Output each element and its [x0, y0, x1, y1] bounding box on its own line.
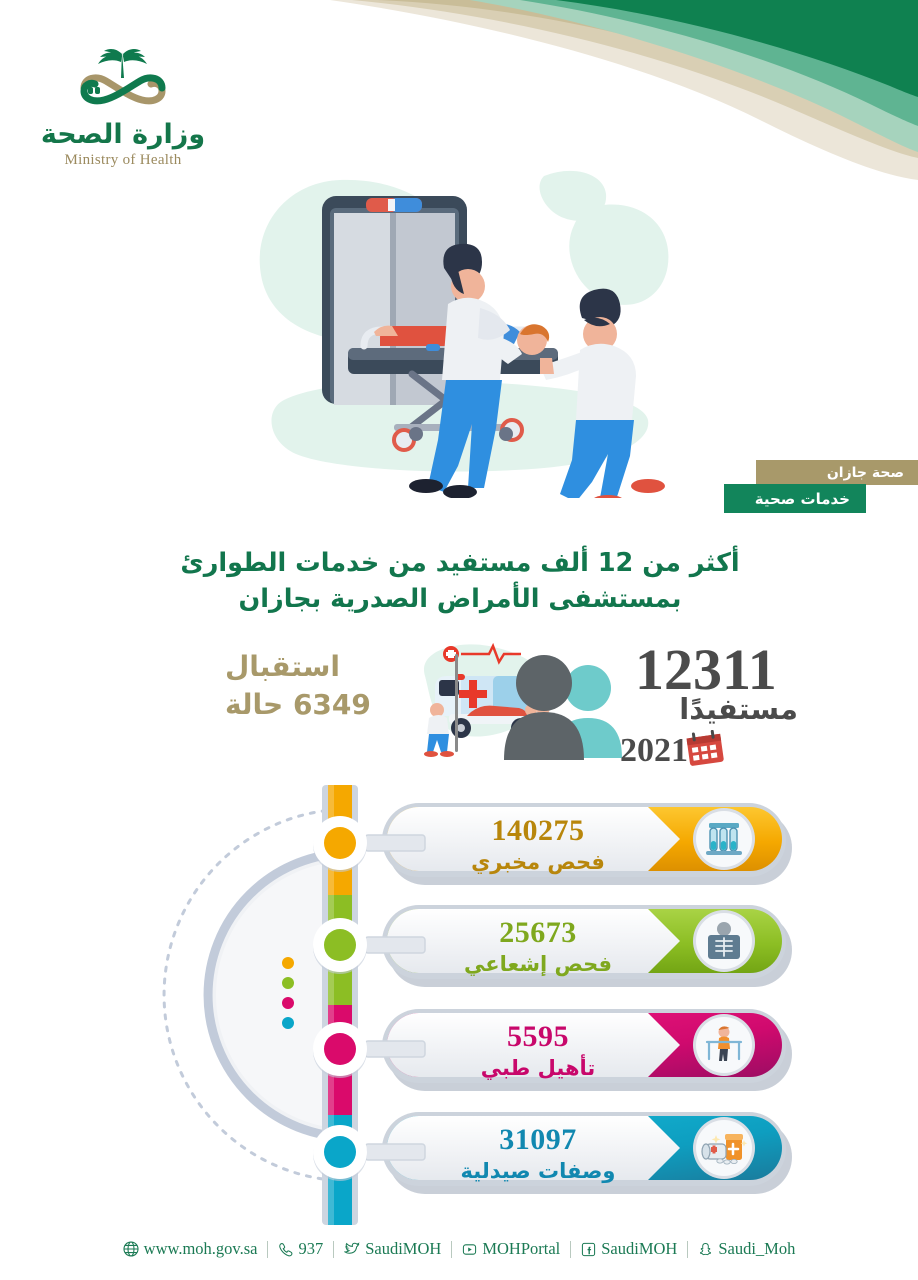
youtube-icon [462, 1242, 477, 1257]
footer-snapchat[interactable]: Saudi_Moh [688, 1239, 805, 1259]
twitter-icon [344, 1241, 360, 1257]
footer-website[interactable]: www.moh.gov.sa [113, 1239, 268, 1259]
badge-service: خدمات صحية [724, 484, 866, 513]
footer-twitter-label: SaudiMOH [365, 1239, 441, 1259]
infographic-page: وزارة الصحة Ministry of Health [0, 0, 918, 1280]
headline-line-1: أكثر من 12 ألف مستفيد من خدمات الطوارئ [120, 545, 800, 581]
timeline-node-lab[interactable] [310, 813, 370, 873]
footer-snapchat-label: Saudi_Moh [718, 1239, 795, 1259]
footer-twitter[interactable]: SaudiMOH [334, 1239, 451, 1259]
timeline-node-rehab[interactable] [310, 1019, 370, 1079]
headline-line-2: بمستشفى الأمراض الصدرية بجازان [120, 581, 800, 617]
footer-facebook-label: SaudiMOH [601, 1239, 677, 1259]
stats-divider [455, 654, 458, 752]
stats-row: استقبال 6349 حالة [130, 636, 810, 781]
two-people-icon [500, 648, 630, 763]
calendar-icon [685, 730, 725, 766]
footer-phone-label: 937 [298, 1239, 323, 1259]
snapchat-icon [698, 1242, 713, 1257]
footer-youtube[interactable]: MOHPortal [452, 1239, 570, 1259]
services-timeline: 140275 فحص مخبري [150, 785, 770, 1225]
footer-contact-bar: www.moh.gov.sa 937 SaudiMOH MOHPortal [0, 1232, 918, 1266]
timeline-connectors [335, 785, 775, 1225]
globe-icon [123, 1241, 139, 1257]
stat-admissions: استقبال 6349 حالة [225, 648, 405, 724]
moh-palm-swords-icon [58, 48, 188, 118]
footer-website-label: www.moh.gov.sa [144, 1239, 258, 1259]
phone-icon [278, 1242, 293, 1257]
footer-facebook[interactable]: SaudiMOH [571, 1239, 687, 1259]
beneficiaries-year: 2021 [620, 732, 688, 770]
badge-region: صحة جازان [756, 460, 918, 485]
stat-beneficiaries: 12311 مستفيدًا 2021 [500, 640, 820, 775]
timeline-node-radiology[interactable] [310, 915, 370, 975]
footer-phone[interactable]: 937 [268, 1239, 333, 1259]
logo-name-english: Ministry of Health [38, 152, 208, 169]
ministry-logo: وزارة الصحة Ministry of Health [38, 48, 208, 169]
stat-admissions-line-1: استقبال [225, 648, 405, 686]
facebook-icon [581, 1242, 596, 1257]
logo-name-arabic: وزارة الصحة [38, 120, 208, 150]
stat-admissions-line-2: 6349 حالة [225, 686, 405, 724]
beneficiaries-label: مستفيدًا [618, 692, 798, 726]
hero-illustration [244, 168, 694, 498]
footer-youtube-label: MOHPortal [482, 1239, 560, 1259]
timeline-node-pharmacy[interactable] [310, 1122, 370, 1182]
page-title: أكثر من 12 ألف مستفيد من خدمات الطوارئ ب… [120, 545, 800, 617]
